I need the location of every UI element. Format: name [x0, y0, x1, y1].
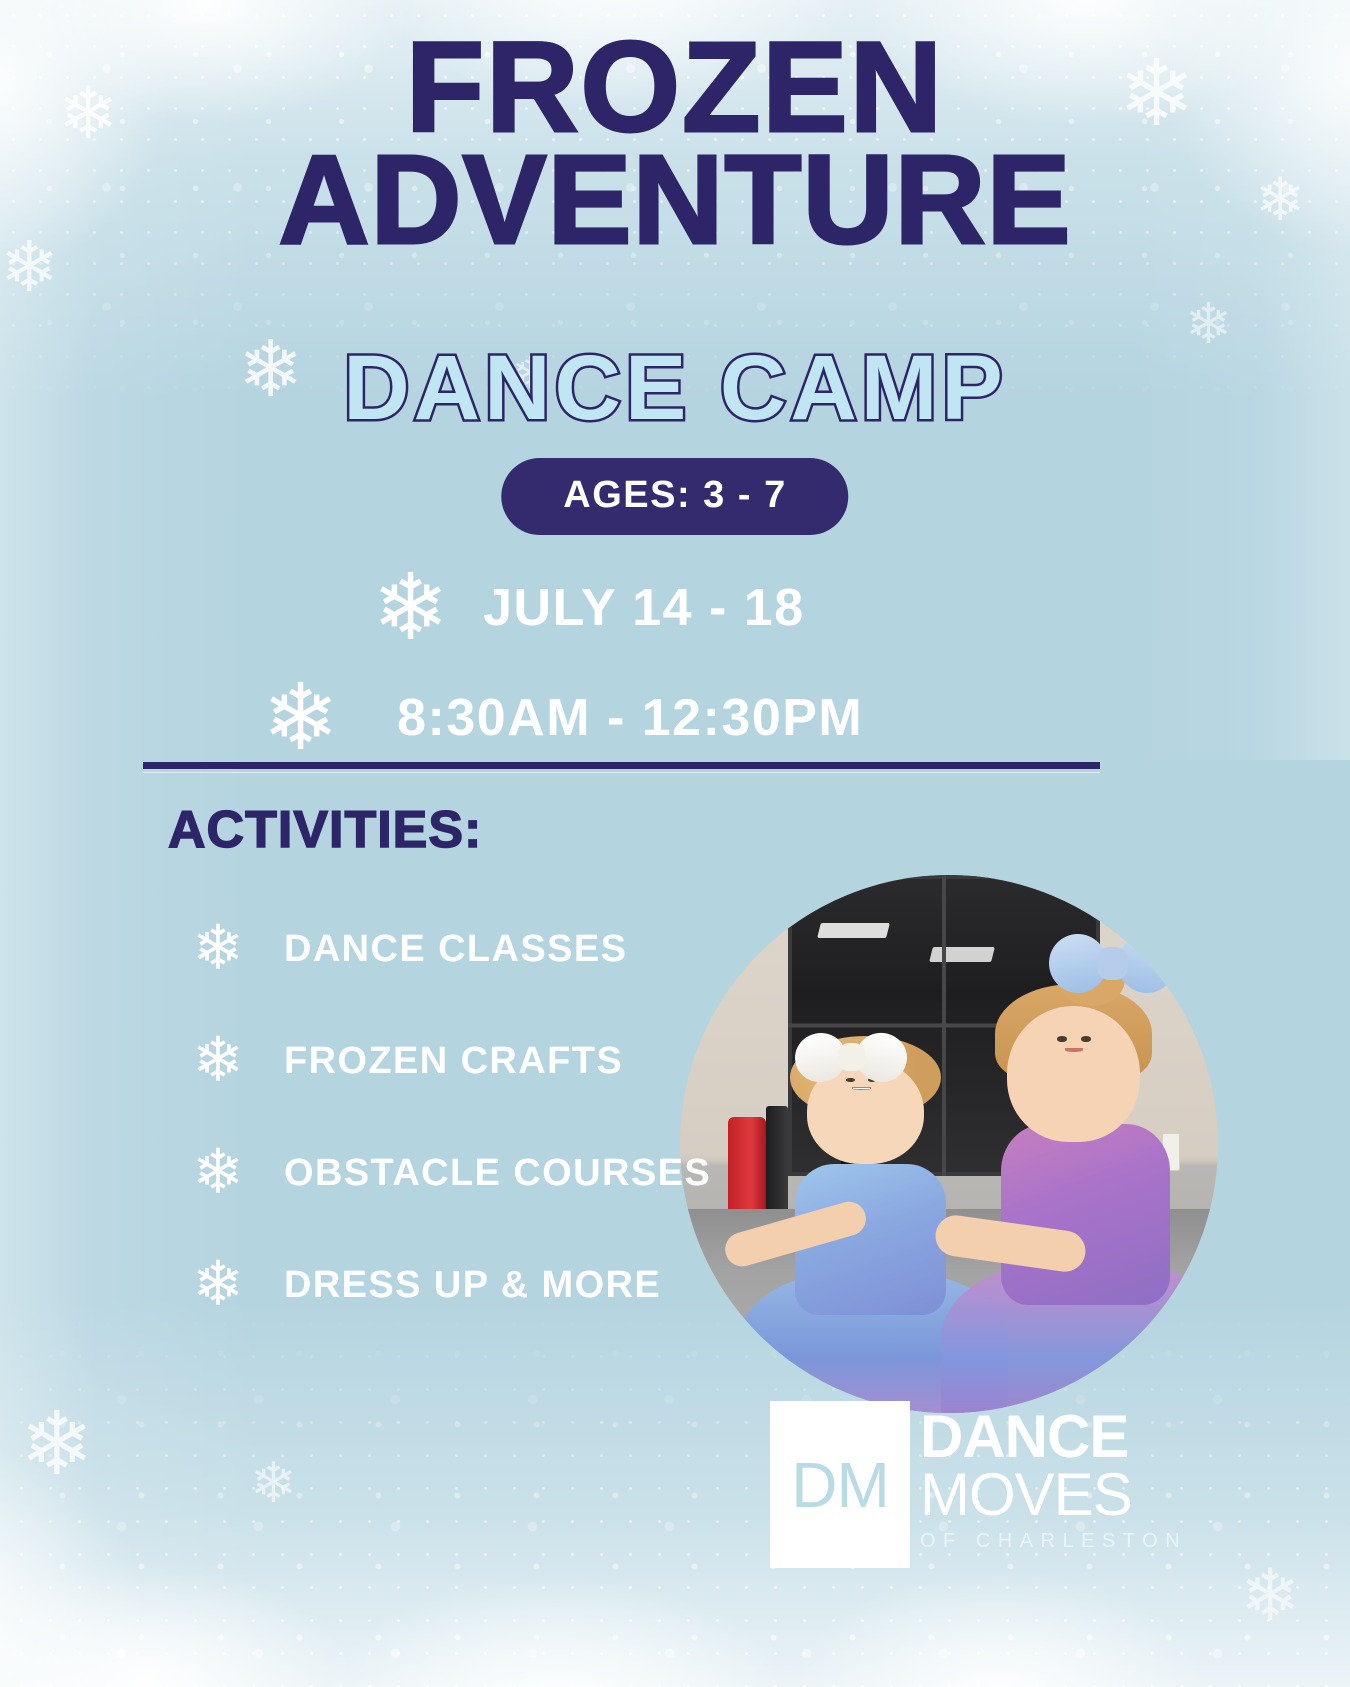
activities-heading: ACTIVITIES:	[168, 800, 482, 860]
decorative-snowflake-icon: ❄	[250, 1455, 297, 1511]
poster-canvas: ❄ ❄ ❄ ❄ ❄ ❄ ❄ ❄ ❄ ❄ FROZEN ADVENTURE DAN…	[0, 0, 1350, 1687]
camp-date-text: JULY 14 - 18	[483, 578, 805, 638]
activity-label: DRESS UP & MORE	[284, 1264, 661, 1307]
section-divider	[143, 762, 1100, 769]
snowflake-icon: ❄	[176, 1030, 260, 1092]
list-item: ❄ DRESS UP & MORE	[176, 1229, 736, 1341]
logo-line-dance: DANCE	[920, 1408, 1187, 1466]
photo-eye	[1081, 1036, 1090, 1041]
decorative-snowflake-icon: ❄	[1240, 1560, 1300, 1632]
activity-label: DANCE CLASSES	[284, 928, 627, 971]
title-line-2: ADVENTURE	[0, 145, 1350, 256]
photo-leotard	[1001, 1124, 1170, 1305]
snowflake-icon: ❄	[176, 1142, 260, 1204]
photo-head	[1007, 1006, 1140, 1142]
logo-monogram-mark: DM	[770, 1401, 910, 1568]
brand-logo: DM DANCE MOVES OF CHARLESTON	[770, 1393, 1190, 1568]
logo-monogram-text: DM	[791, 1448, 889, 1522]
decorative-snowflake-icon: ❄	[20, 1400, 94, 1488]
camp-time-text: 8:30AM - 12:30PM	[397, 688, 863, 748]
ages-badge: AGES: 3 - 7	[501, 458, 848, 535]
photo-eye	[1057, 1036, 1066, 1041]
snowflake-icon: ❄	[176, 918, 260, 980]
page-subtitle: DANCE CAMP	[0, 336, 1350, 441]
activity-label: FROZEN CRAFTS	[284, 1040, 623, 1083]
activities-list: ❄ DANCE CLASSES ❄ FROZEN CRAFTS ❄ OBSTAC…	[176, 893, 736, 1341]
logo-wordmark: DANCE MOVES OF CHARLESTON	[920, 1393, 1187, 1568]
camp-date-row: ❄ JULY 14 - 18	[372, 562, 805, 654]
list-item: ❄ OBSTACLE COURSES	[176, 1117, 736, 1229]
photo-hair-bow-blue	[1049, 934, 1176, 993]
photo-mouth	[1065, 1048, 1082, 1052]
snowflake-icon: ❄	[262, 672, 339, 764]
photo-mouth	[852, 1087, 871, 1090]
photo-hair-bow-white	[795, 1033, 907, 1082]
list-item: ❄ DANCE CLASSES	[176, 893, 736, 1005]
snowflake-icon: ❄	[372, 562, 449, 654]
ages-badge-label: AGES: 3 - 7	[563, 474, 786, 516]
logo-tagline: OF CHARLESTON	[920, 1530, 1187, 1553]
dancers-photo	[680, 875, 1218, 1413]
photo-child-right	[917, 961, 1218, 1413]
page-title: FROZEN ADVENTURE	[0, 32, 1350, 256]
logo-line-moves: MOVES	[920, 1466, 1187, 1524]
title-line-1: FROZEN	[0, 32, 1350, 145]
snowflake-icon: ❄	[176, 1254, 260, 1316]
list-item: ❄ FROZEN CRAFTS	[176, 1005, 736, 1117]
camp-time-row: ❄ 8:30AM - 12:30PM	[262, 672, 863, 764]
activity-label: OBSTACLE COURSES	[284, 1152, 711, 1195]
